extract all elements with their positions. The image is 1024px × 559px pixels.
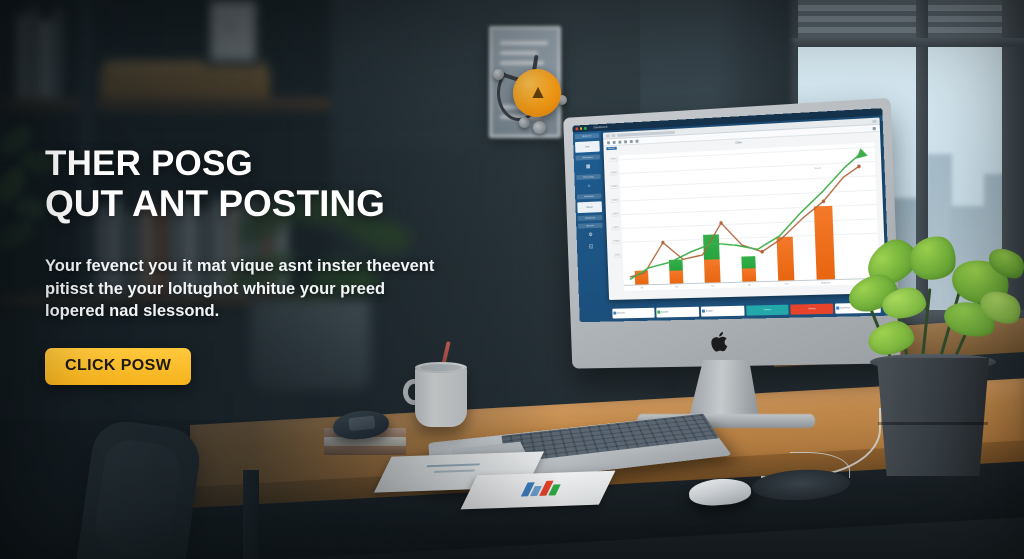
dock-item-0[interactable]: Bluetooth	[612, 307, 654, 318]
chart-annotation: Growth	[814, 168, 821, 170]
window-close-dot[interactable]	[575, 128, 577, 131]
dock-icon-0	[613, 312, 616, 315]
y-tick-7: 7000	[610, 158, 618, 162]
grid-icon[interactable]: ▦	[576, 162, 601, 172]
browser-menu-icon[interactable]	[872, 119, 876, 122]
window-transom	[784, 38, 1024, 47]
dock-item-1[interactable]: Available	[656, 306, 699, 317]
headline-line-2: QUT ANT POSTING	[45, 184, 465, 224]
y-tick-5: 5000	[611, 185, 619, 189]
dock-continue-button[interactable]: Continue	[746, 304, 788, 315]
dock-icon-5	[836, 307, 839, 310]
robot-face-glyph: ▲	[525, 83, 551, 105]
window-max-dot[interactable]	[584, 127, 586, 130]
bookshelf-top-books	[100, 12, 300, 112]
clock-icon[interactable]: ○	[577, 182, 602, 192]
dock-label-2: Analytics	[706, 310, 714, 312]
plant-pot-band	[878, 422, 988, 425]
y-tick-6: 6000	[610, 171, 618, 175]
headline-line-1: THER POSG	[45, 144, 253, 183]
chart-trend-lines	[619, 142, 880, 290]
dock-label-1: Available	[661, 311, 668, 313]
dock-item-2[interactable]: Analytics	[701, 305, 745, 316]
trend-line-green	[626, 153, 866, 279]
window-blinds	[784, 0, 1024, 40]
nav-back-icon[interactable]	[606, 134, 610, 137]
sidebar-item-4-label: Worksheet	[577, 194, 602, 200]
trend-line-brown	[626, 166, 863, 277]
desk-leg	[243, 470, 259, 559]
dock-icon-2	[702, 310, 705, 313]
sidebar-item-2[interactable]: Workspace	[576, 154, 601, 160]
tool-redo-icon[interactable]	[618, 140, 621, 143]
tool-bold-icon[interactable]	[624, 140, 627, 143]
y-tick-0: 0.00	[614, 254, 621, 258]
framed-picture	[205, 0, 261, 66]
sidebar-item-1[interactable]: Data	[575, 141, 600, 153]
dock-label-0: Bluetooth	[617, 312, 625, 314]
robot-joint-d	[533, 121, 546, 134]
screen-content: Dashboard Audio List Data Workspace ▦ Pr…	[573, 108, 891, 322]
app-sidebar: Audio List Data Workspace ▦ Processing ○…	[573, 131, 608, 322]
trend-arrowhead	[856, 148, 868, 159]
dock-icon-1	[657, 311, 660, 314]
dock-ordering-button[interactable]: Ordering	[790, 303, 833, 314]
y-tick-3: 3000	[612, 212, 620, 216]
imac-computer: Dashboard Audio List Data Workspace ▦ Pr…	[561, 108, 893, 408]
imac-display: Dashboard Audio List Data Workspace ▦ Pr…	[573, 108, 891, 322]
robot-joint-c	[519, 117, 530, 128]
sidebar-item-7[interactable]: Account	[578, 223, 603, 229]
sheet-tab[interactable]: Sheet1	[606, 147, 616, 150]
y-tick-1: 1000	[613, 240, 621, 244]
nav-forward-icon[interactable]	[611, 134, 615, 137]
app-window: Chart Sheet1 7000 6000 5000 4000 3000 20…	[603, 118, 886, 300]
copy-block: THER POSG QUT ANT POSTING Your fevenct y…	[45, 144, 465, 385]
sidebar-item-0[interactable]: Audio List	[575, 133, 600, 139]
headline: THER POSG QUT ANT POSTING	[45, 144, 465, 224]
tool-save-icon[interactable]	[607, 141, 610, 144]
sidebar-item-5[interactable]: Report	[577, 201, 602, 213]
tool-filter-icon[interactable]	[636, 139, 639, 142]
chart-plot-area: 7000 6000 5000 4000 3000 2000 1000 0.00	[619, 142, 880, 290]
cta-button[interactable]: CLICK POSW	[45, 348, 191, 385]
sidebar-item-3-label: Processing	[576, 174, 601, 180]
settings-icon[interactable]: ⚙	[578, 231, 603, 241]
shelf-board-upper	[0, 98, 330, 111]
y-tick-4: 4000	[611, 199, 619, 203]
tool-undo-icon[interactable]	[613, 140, 616, 143]
tool-settings-icon[interactable]	[873, 126, 876, 129]
marketing-banner: ▲	[0, 0, 1024, 559]
paper-sheet-2	[461, 471, 616, 510]
book-bottom	[324, 446, 406, 455]
sidebar-item-6[interactable]: Chart Data	[578, 215, 603, 221]
layers-icon[interactable]: ◱	[579, 242, 604, 252]
apple-logo-icon	[711, 330, 732, 355]
plant-pot	[872, 358, 994, 476]
window-min-dot[interactable]	[580, 127, 582, 130]
robot-joint-a	[493, 69, 504, 80]
sub-copy: Your fevenct you it mat vique asnt inste…	[45, 255, 445, 323]
bookshelf-upright-books	[14, 0, 84, 100]
tool-chart-icon[interactable]	[630, 139, 633, 142]
os-title: Dashboard	[594, 126, 608, 130]
y-tick-2: 2000	[612, 226, 620, 230]
potted-plant	[848, 236, 1024, 482]
